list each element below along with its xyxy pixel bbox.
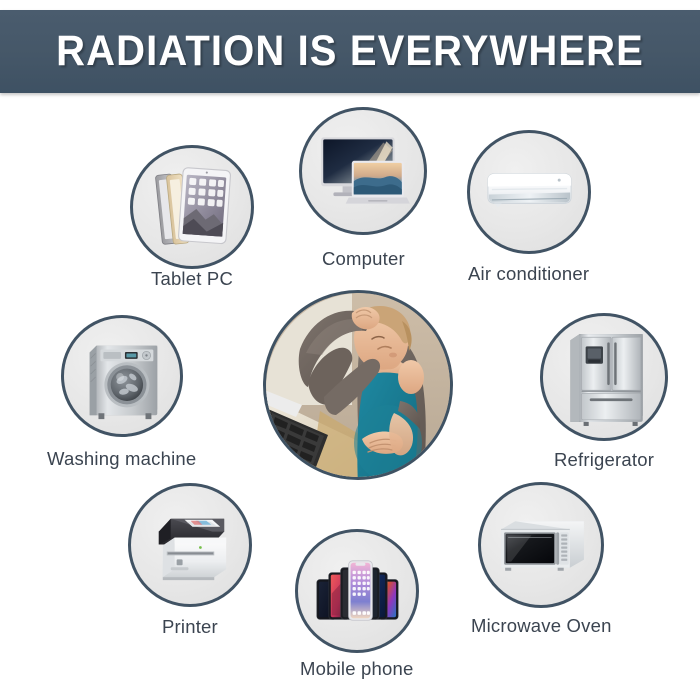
printer-icon xyxy=(141,496,240,595)
air-conditioner-label: Air conditioner xyxy=(468,263,589,285)
node-washing-machine[interactable] xyxy=(61,315,183,437)
refrigerator-bubble[interactable] xyxy=(540,313,668,441)
node-tablet-pc[interactable] xyxy=(130,145,254,269)
node-computer[interactable] xyxy=(299,107,427,235)
header-banner: RADIATION IS EVERYWHERE xyxy=(0,10,700,93)
tablet-pc-bubble[interactable] xyxy=(130,145,254,269)
mobile-phone-bubble[interactable] xyxy=(295,529,419,653)
tablet-icon xyxy=(143,158,242,257)
air-conditioner-icon xyxy=(480,143,579,242)
washing-machine-icon xyxy=(73,327,171,425)
tablet-pc-label: Tablet PC xyxy=(151,268,233,290)
air-conditioner-bubble[interactable] xyxy=(467,130,591,254)
refrigerator-icon xyxy=(553,326,655,428)
microwave-oven-bubble[interactable] xyxy=(478,482,604,608)
center-hero-image xyxy=(263,290,453,480)
node-microwave-oven[interactable] xyxy=(478,482,604,608)
node-mobile-phone[interactable] xyxy=(295,529,419,653)
computer-bubble[interactable] xyxy=(299,107,427,235)
mobile-phone-icon xyxy=(308,542,407,641)
microwave-oven-label: Microwave Oven xyxy=(471,615,612,637)
woman-at-computer-illustration xyxy=(266,293,453,480)
refrigerator-label: Refrigerator xyxy=(554,449,654,471)
node-refrigerator[interactable] xyxy=(540,313,668,441)
infographic-canvas: RADIATION IS EVERYWHERE xyxy=(0,0,700,700)
computer-icon xyxy=(312,120,414,222)
page-title: RADIATION IS EVERYWHERE xyxy=(56,27,644,76)
node-printer[interactable] xyxy=(128,483,252,607)
printer-bubble[interactable] xyxy=(128,483,252,607)
mobile-phone-label: Mobile phone xyxy=(300,658,413,680)
computer-label: Computer xyxy=(322,248,405,270)
printer-label: Printer xyxy=(162,616,218,638)
washing-machine-bubble[interactable] xyxy=(61,315,183,437)
washing-machine-label: Washing machine xyxy=(47,448,196,470)
microwave-oven-icon xyxy=(491,495,592,596)
node-air-conditioner[interactable] xyxy=(467,130,591,254)
